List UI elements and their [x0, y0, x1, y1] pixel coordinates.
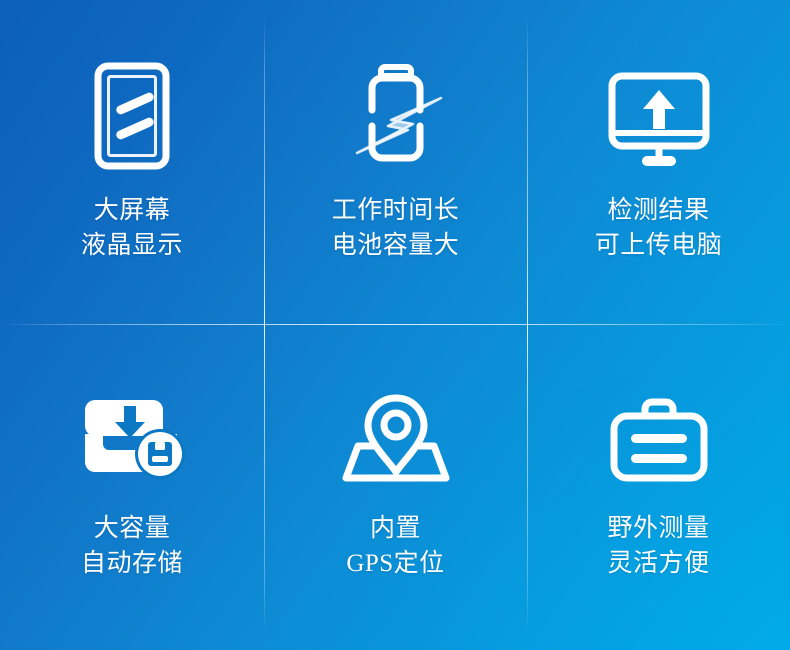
feature-label: 内置 GPS定位 — [346, 512, 444, 581]
feature-label: 检测结果 可上传电脑 — [595, 194, 723, 263]
feature-label: 大屏幕 液晶显示 — [81, 194, 183, 263]
lcd-screen-icon — [84, 52, 180, 172]
feature-label: 大容量 自动存储 — [81, 512, 183, 581]
feature-label: 野外测量 灵活方便 — [607, 512, 709, 581]
feature-cell-auto-storage[interactable]: 大容量 自动存储 — [0, 324, 264, 650]
feature-label: 工作时间长 电池容量大 — [332, 194, 460, 263]
feature-cell-large-screen[interactable]: 大屏幕 液晶显示 — [0, 0, 264, 324]
feature-cell-upload-results[interactable]: 检测结果 可上传电脑 — [527, 0, 790, 324]
battery-bolt-icon — [341, 52, 451, 172]
briefcase-icon — [607, 366, 711, 486]
feature-grid: 大屏幕 液晶显示 工作时间长 电池容量大 — [0, 0, 790, 650]
inbox-save-icon — [76, 366, 188, 486]
map-pin-icon — [340, 366, 452, 486]
feature-cell-gps-builtin[interactable]: 内置 GPS定位 — [264, 324, 527, 650]
feature-highlight-panel: 大屏幕 液晶显示 工作时间长 电池容量大 — [0, 0, 790, 650]
feature-cell-battery-life[interactable]: 工作时间长 电池容量大 — [264, 0, 527, 324]
monitor-upload-icon — [605, 52, 713, 172]
feature-cell-field-survey[interactable]: 野外测量 灵活方便 — [527, 324, 790, 650]
